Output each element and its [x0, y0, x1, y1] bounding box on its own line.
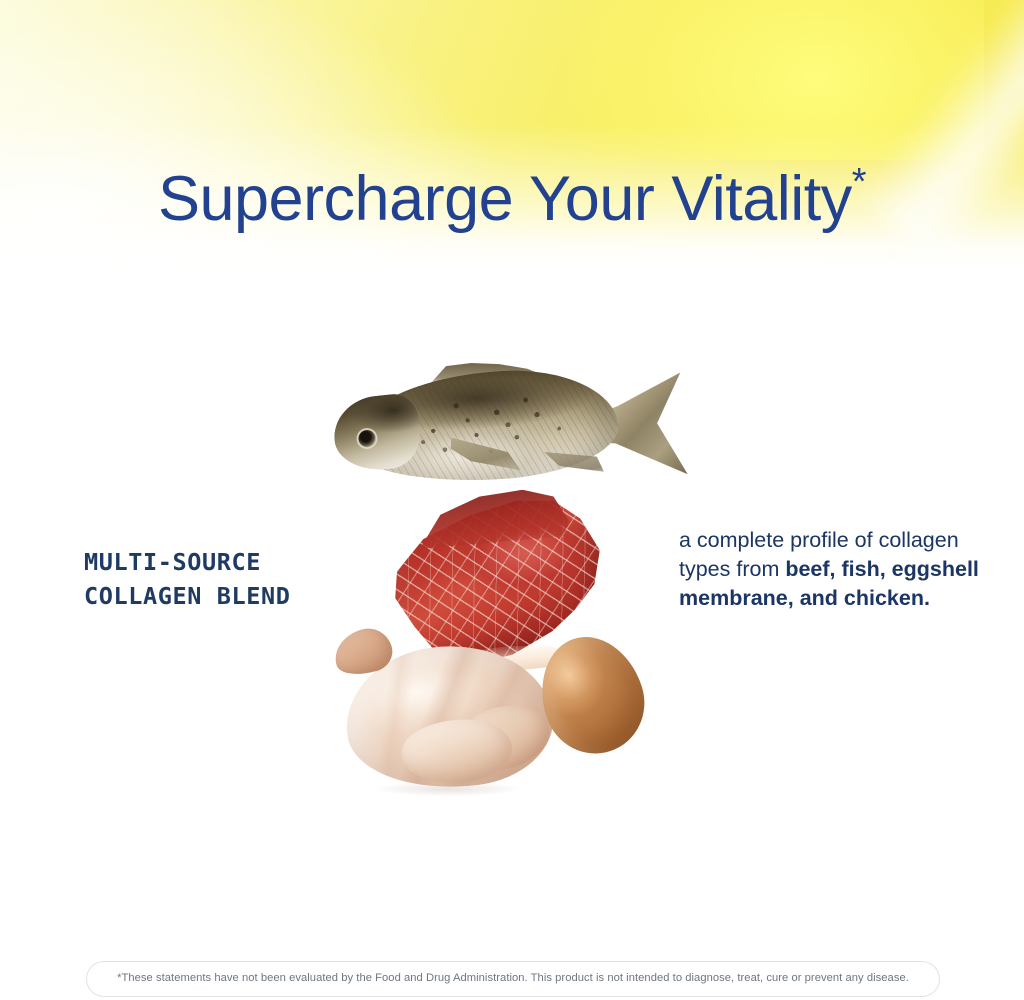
description-lead: a complete profile of	[679, 528, 873, 552]
disclaimer-pill: *These statements have not been evaluate…	[86, 961, 940, 997]
page-title: Supercharge Your Vitality*	[0, 168, 1024, 231]
description-chicken: and chicken.	[800, 586, 930, 610]
page-title-text: Supercharge Your Vitality	[158, 164, 852, 234]
banner-glow	[564, 0, 984, 160]
collagen-description: a complete profile of collagen types fro…	[679, 526, 979, 613]
left-label-line1: MULTI-SOURCE	[84, 548, 261, 576]
disclaimer-text: *These statements have not been evaluate…	[117, 973, 909, 984]
footnote-marker: *	[852, 161, 866, 203]
marketing-page: Supercharge Your Vitality* MULTI-SOURCE …	[0, 0, 1024, 1000]
description-beef: beef,	[785, 557, 835, 581]
chicken-image	[334, 628, 570, 798]
ingredient-collage	[320, 350, 700, 820]
fish-image	[332, 360, 692, 490]
fish-eye	[358, 429, 377, 448]
